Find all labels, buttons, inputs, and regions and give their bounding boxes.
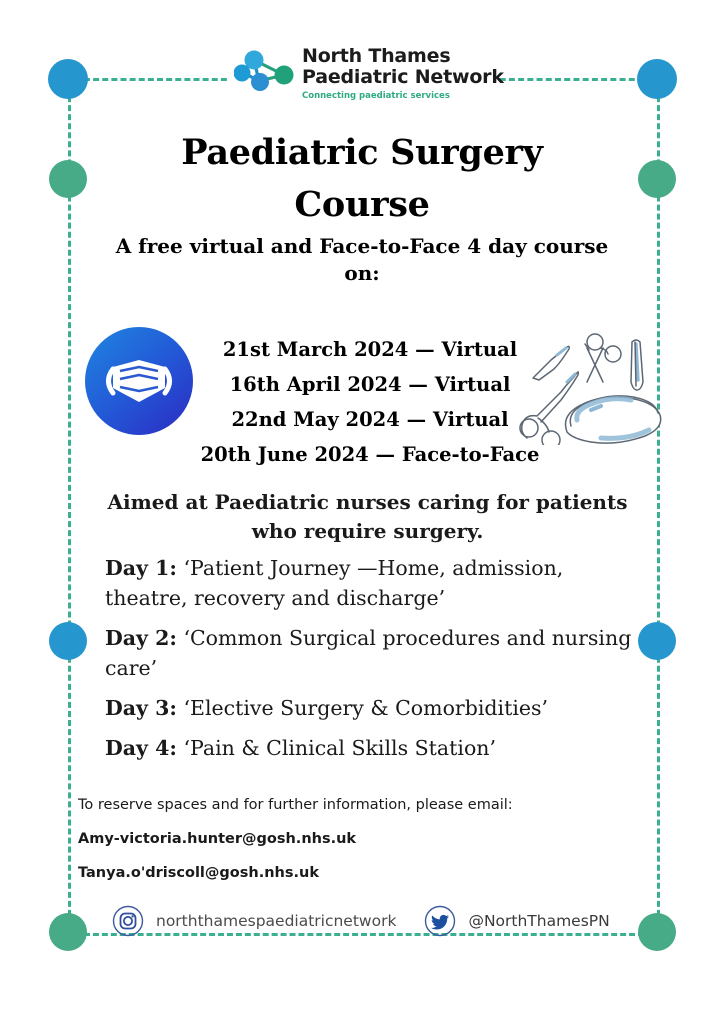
contact-section: To reserve spaces and for further inform…: [78, 795, 638, 897]
logo-title-line1: North Thames: [302, 46, 504, 67]
contact-email-2[interactable]: Tanya.o'driscoll@gosh.nhs.uk: [78, 863, 638, 883]
course-day-item: Day 2: ‘Common Surgical procedures and n…: [105, 623, 635, 683]
organisation-logo: North Thames Paediatric Network Connecti…: [228, 44, 500, 106]
audience-line2: require surgery.: [304, 519, 483, 543]
frame-dot-top-right: [637, 59, 677, 99]
twitter-handle: @NorthThamesPN: [468, 912, 609, 930]
frame-dot-top-left: [48, 59, 88, 99]
day-description: ‘Pain & Clinical Skills Station’: [183, 736, 496, 760]
social-links: norththamespaediatricnetwork @NorthThame…: [112, 905, 610, 937]
course-day-item: Day 3: ‘Elective Surgery & Comorbidities…: [105, 693, 635, 723]
social-link-twitter[interactable]: @NorthThamesPN: [424, 905, 609, 937]
frame-dot-mid-left: [49, 622, 87, 660]
frame-line-top-left: [84, 78, 236, 81]
network-nodes-icon: [234, 46, 296, 102]
frame-dot-bottom-left: [49, 913, 87, 951]
day-label: Day 1:: [105, 556, 177, 580]
contact-lead-text: To reserve spaces and for further inform…: [78, 795, 638, 815]
course-day-item: Day 4: ‘Pain & Clinical Skills Station’: [105, 733, 635, 763]
social-link-instagram[interactable]: norththamespaediatricnetwork: [112, 905, 396, 937]
day-description: ‘Elective Surgery & Comorbidities’: [183, 696, 548, 720]
frame-dot-bottom-right: [638, 913, 676, 951]
instagram-handle: norththamespaediatricnetwork: [156, 912, 396, 930]
frame-dot-mid-right: [638, 622, 676, 660]
instagram-icon[interactable]: [112, 905, 144, 937]
day-label: Day 2:: [105, 626, 177, 650]
contact-email-1[interactable]: Amy-victoria.hunter@gosh.nhs.uk: [78, 829, 638, 849]
page-title-line1: Paediatric Surgery: [0, 132, 724, 173]
poster-canvas: North Thames Paediatric Network Connecti…: [0, 0, 724, 1024]
day-label: Day 4:: [105, 736, 177, 760]
logo-tagline: Connecting paediatric services: [302, 90, 504, 102]
surgical-instruments-sketch: [505, 320, 670, 445]
day-description: ‘Common Surgical procedures and nursing …: [105, 626, 631, 680]
day-label: Day 3:: [105, 696, 177, 720]
page-subtitle-line1: A free virtual and Face-to-Face 4 day co…: [0, 234, 724, 258]
logo-wordmark: North Thames Paediatric Network Connecti…: [302, 44, 504, 102]
twitter-bird-icon[interactable]: [424, 905, 456, 937]
page-title-line2: Course: [0, 184, 724, 225]
audience-statement: Aimed at Paediatric nurses caring for pa…: [100, 488, 635, 546]
course-day-item: Day 1: ‘Patient Journey —Home, admission…: [105, 553, 635, 613]
logo-title-line2: Paediatric Network: [302, 67, 504, 88]
page-subtitle-line2: on:: [0, 261, 724, 285]
course-days-list: Day 1: ‘Patient Journey —Home, admission…: [105, 553, 635, 773]
